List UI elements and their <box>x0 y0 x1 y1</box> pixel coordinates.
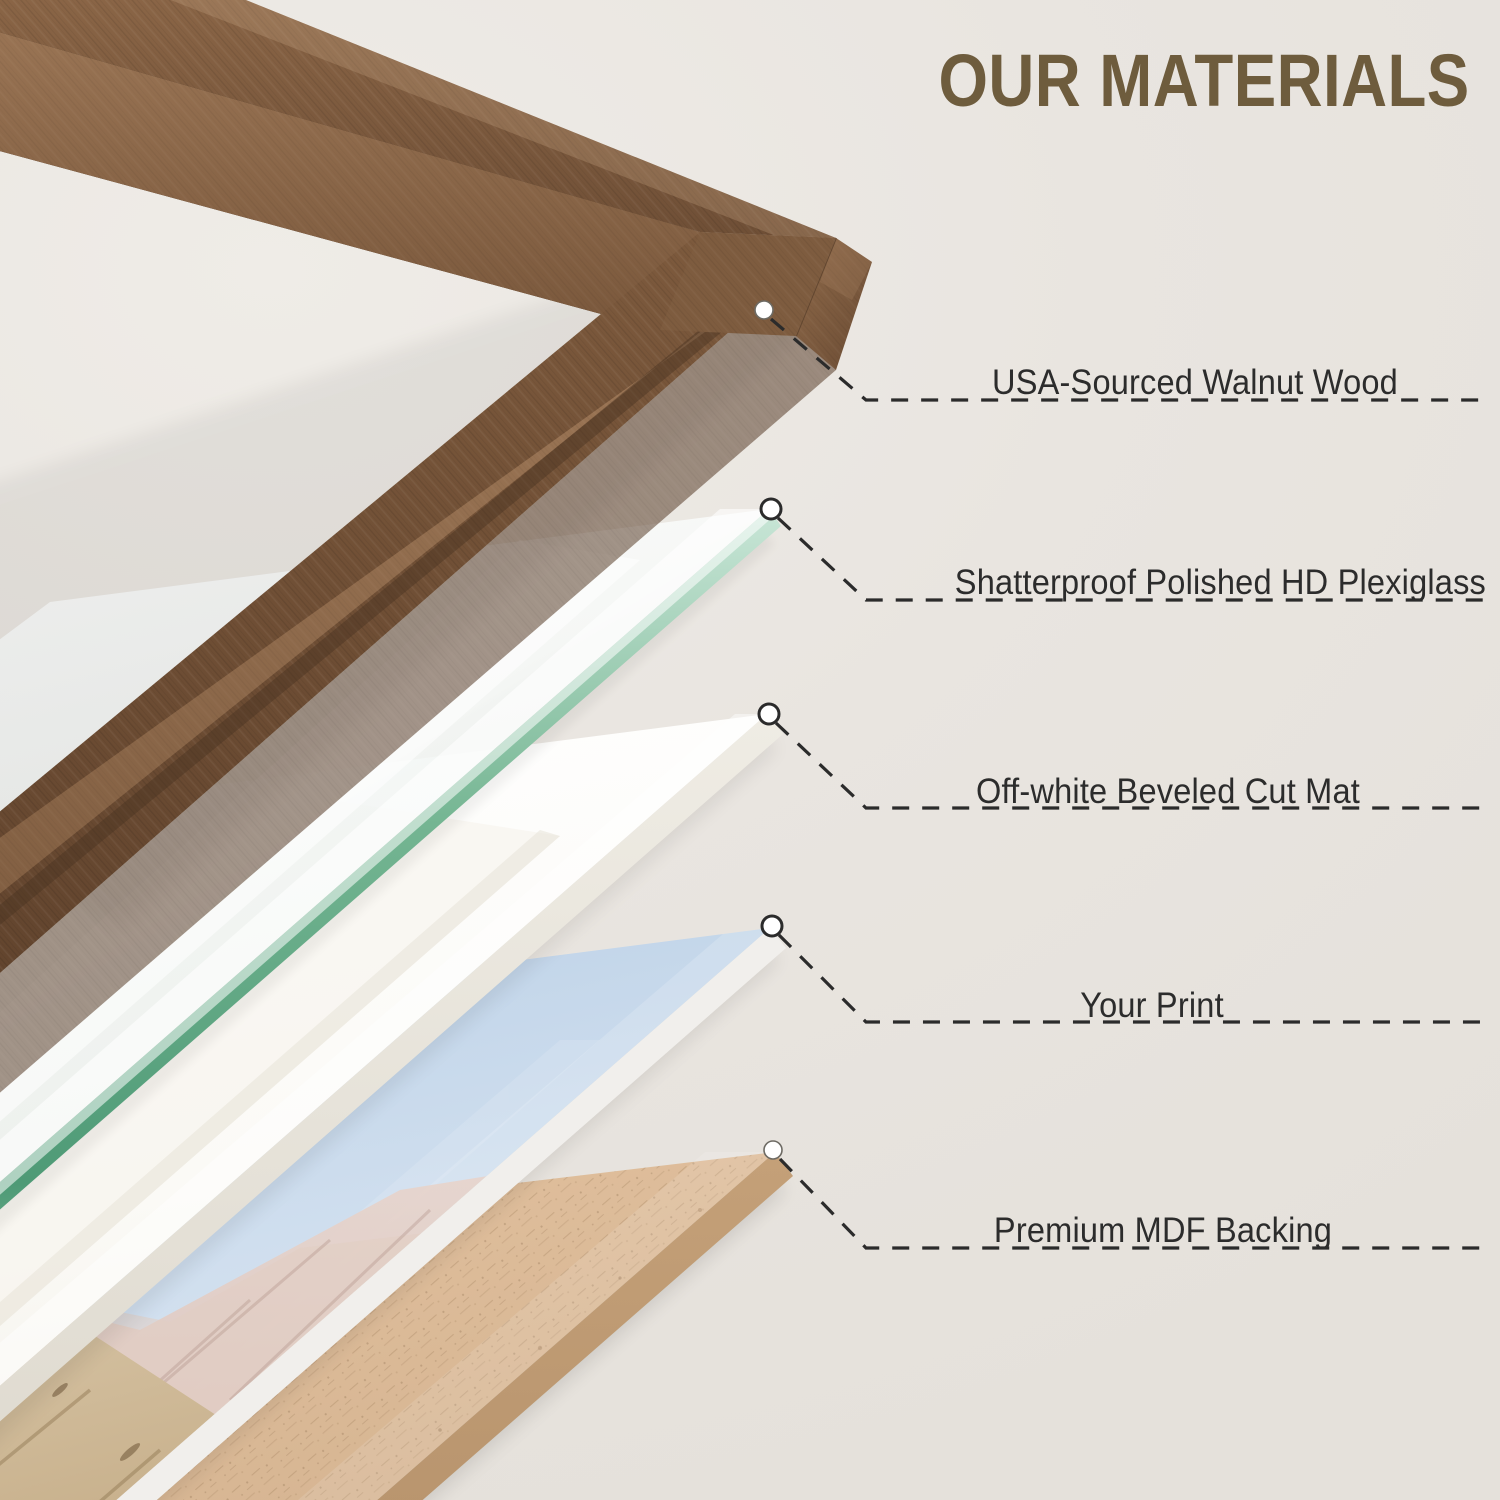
leader-line-mdf <box>0 0 1500 1500</box>
callout-marker-dot <box>764 1141 782 1159</box>
callout-label-mdf: Premium MDF Backing <box>994 1211 1332 1251</box>
infographic-canvas: OUR MATERIALS USA-Sourced Walnut WoodSha… <box>0 0 1500 1500</box>
